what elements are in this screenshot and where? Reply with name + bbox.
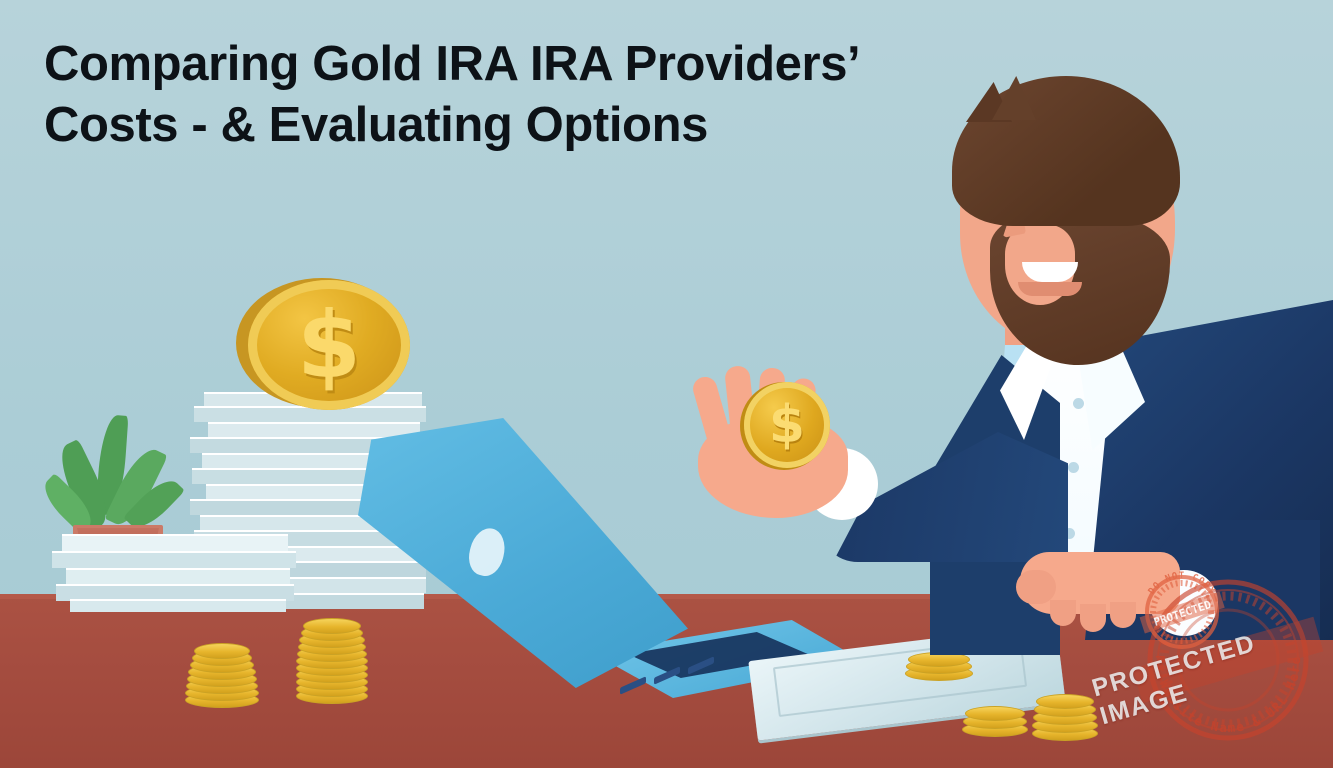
- coin: [965, 706, 1025, 721]
- paper-stack-low: [52, 534, 302, 610]
- coin-stack-desk-right-a: [962, 700, 1032, 740]
- coin-stack-desk-right-b: [1032, 686, 1102, 742]
- paper-sheet: [66, 568, 290, 584]
- finger: [1050, 600, 1076, 626]
- shirt-button: [1068, 462, 1079, 473]
- coin-stack-tall: [296, 612, 374, 704]
- laptop-ports: [620, 678, 760, 692]
- shirt-button: [1073, 398, 1084, 409]
- page-title: Comparing Gold IRA IRA Providers’ Costs …: [44, 34, 1024, 156]
- dollar-sign-icon: $: [744, 382, 830, 468]
- coin: [1036, 694, 1094, 709]
- paper-sheet: [208, 422, 420, 437]
- thumb: [1016, 570, 1056, 604]
- paper-sheet: [70, 599, 286, 612]
- title-line-2: Costs - & Evaluating Options: [44, 95, 1024, 156]
- paper-sheet: [62, 534, 288, 551]
- coin: [303, 618, 361, 634]
- illustration-canvas: $: [0, 0, 1333, 768]
- coin-stack-small: [185, 640, 263, 706]
- paper-sheet: [52, 551, 296, 568]
- coin: [194, 643, 250, 659]
- hand-lower: [1014, 552, 1189, 642]
- dollar-sign-icon: $: [248, 280, 410, 410]
- finger: [1080, 604, 1106, 632]
- lower-lip: [1018, 282, 1082, 296]
- finger: [1110, 602, 1136, 628]
- title-line-1: Comparing Gold IRA IRA Providers’: [44, 34, 1024, 95]
